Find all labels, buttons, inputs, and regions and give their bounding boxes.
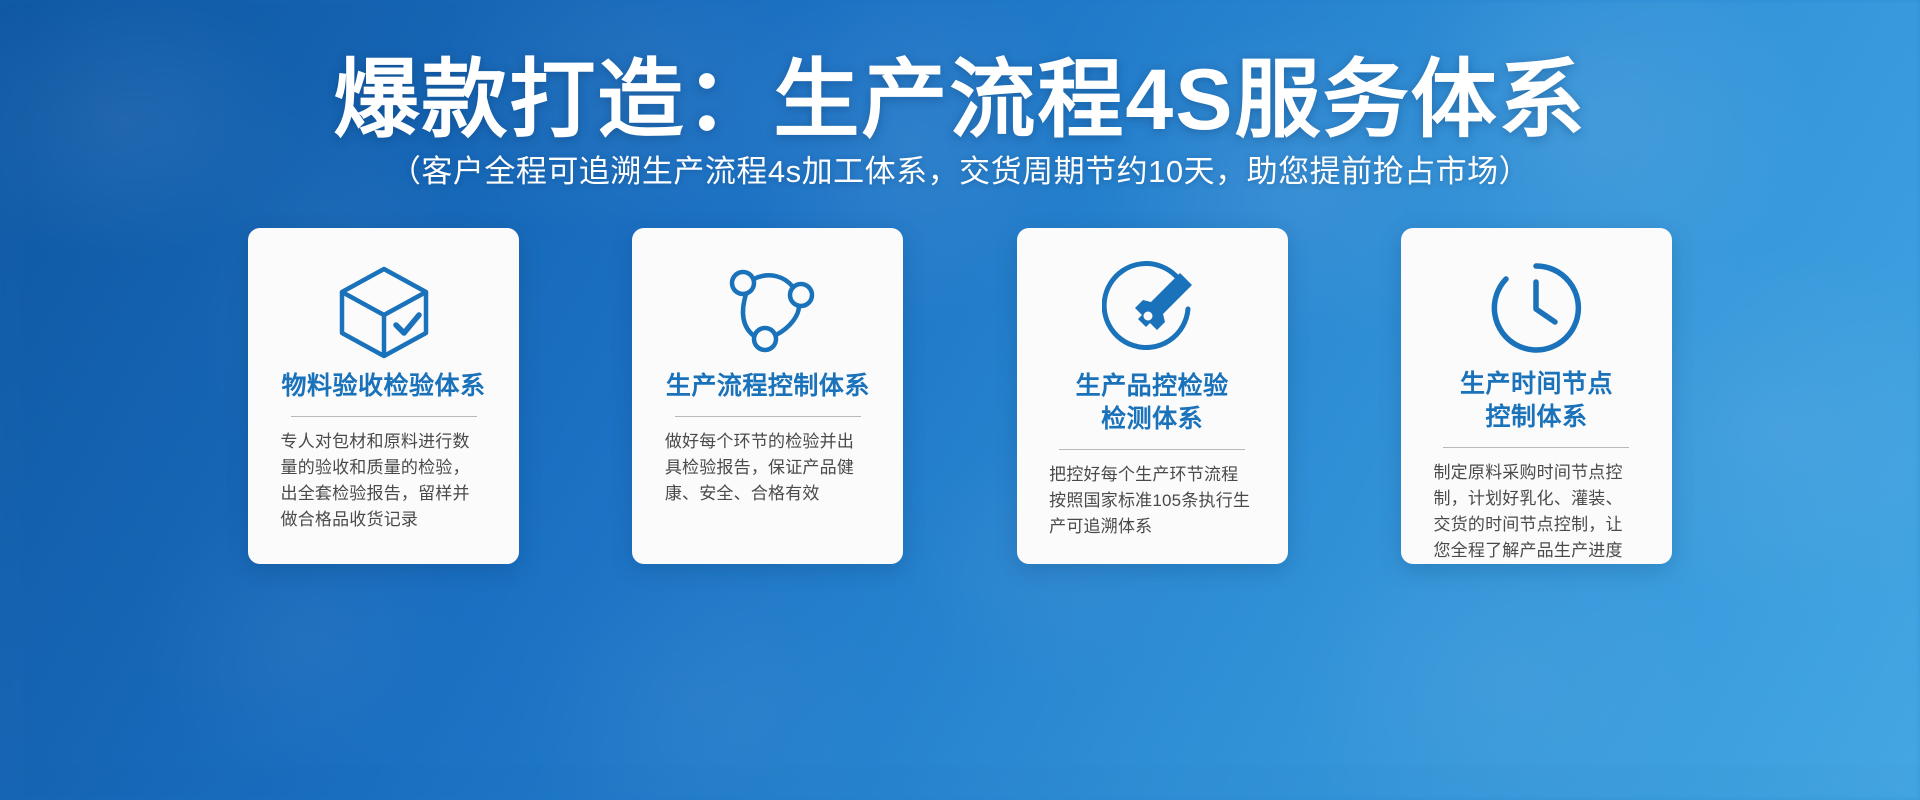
card-divider xyxy=(1059,449,1245,450)
card-divider xyxy=(675,416,861,417)
feature-card-title: 物料验收检验体系 xyxy=(281,370,485,403)
banner-subtitle: （客户全程可追溯生产流程4s加工体系，交货周期节约10天，助您提前抢占市场） xyxy=(0,150,1920,194)
feature-card-title: 生产流程控制体系 xyxy=(666,370,870,403)
box-check-icon xyxy=(332,254,436,364)
wrench-circle-icon xyxy=(1102,254,1202,364)
feature-card-title-line2: 控制体系 xyxy=(1460,401,1613,434)
feature-card-body: 制定原料采购时间节点控制，计划好乳化、灌装、交货的时间节点控制，让您全程了解产品… xyxy=(1433,460,1639,564)
feature-card-title: 生产时间节点 控制体系 xyxy=(1460,368,1613,434)
feature-card-schedule-control[interactable]: 生产时间节点 控制体系 制定原料采购时间节点控制，计划好乳化、灌装、交货的时间节… xyxy=(1401,228,1672,564)
clock-icon xyxy=(1487,254,1585,362)
feature-card-body: 把控好每个生产环节流程按照国家标准105条执行生产可追溯体系 xyxy=(1049,462,1255,540)
promo-banner: 爆款打造：生产流程4S服务体系 （客户全程可追溯生产流程4s加工体系，交货周期节… xyxy=(0,0,1920,800)
card-divider xyxy=(1443,447,1629,448)
feature-card-title-line2: 检测体系 xyxy=(1076,403,1229,436)
card-divider xyxy=(291,416,477,417)
feature-card-material-inspection[interactable]: 物料验收检验体系 专人对包材和原料进行数量的验收和质量的检验，出全套检验报告，留… xyxy=(248,228,519,564)
feature-card-title: 生产品控检验 检测体系 xyxy=(1076,370,1229,436)
banner-title: 爆款打造：生产流程4S服务体系 xyxy=(0,52,1920,148)
network-nodes-icon xyxy=(715,254,821,364)
feature-card-title-line1: 生产时间节点 xyxy=(1460,368,1613,401)
feature-card-list: 物料验收检验体系 专人对包材和原料进行数量的验收和质量的检验，出全套检验报告，留… xyxy=(248,228,1672,564)
banner-content: 爆款打造：生产流程4S服务体系 （客户全程可追溯生产流程4s加工体系，交货周期节… xyxy=(0,0,1920,800)
feature-card-process-control[interactable]: 生产流程控制体系 做好每个环节的检验并出具检验报告，保证产品健康、安全、合格有效 xyxy=(632,228,903,564)
feature-card-body: 做好每个环节的检验并出具检验报告，保证产品健康、安全、合格有效 xyxy=(665,429,871,507)
feature-card-quality-inspection[interactable]: 生产品控检验 检测体系 把控好每个生产环节流程按照国家标准105条执行生产可追溯… xyxy=(1017,228,1288,564)
feature-card-body: 专人对包材和原料进行数量的验收和质量的检验，出全套检验报告，留样并做合格品收货记… xyxy=(281,429,487,533)
feature-card-title-line1: 生产品控检验 xyxy=(1076,370,1229,403)
